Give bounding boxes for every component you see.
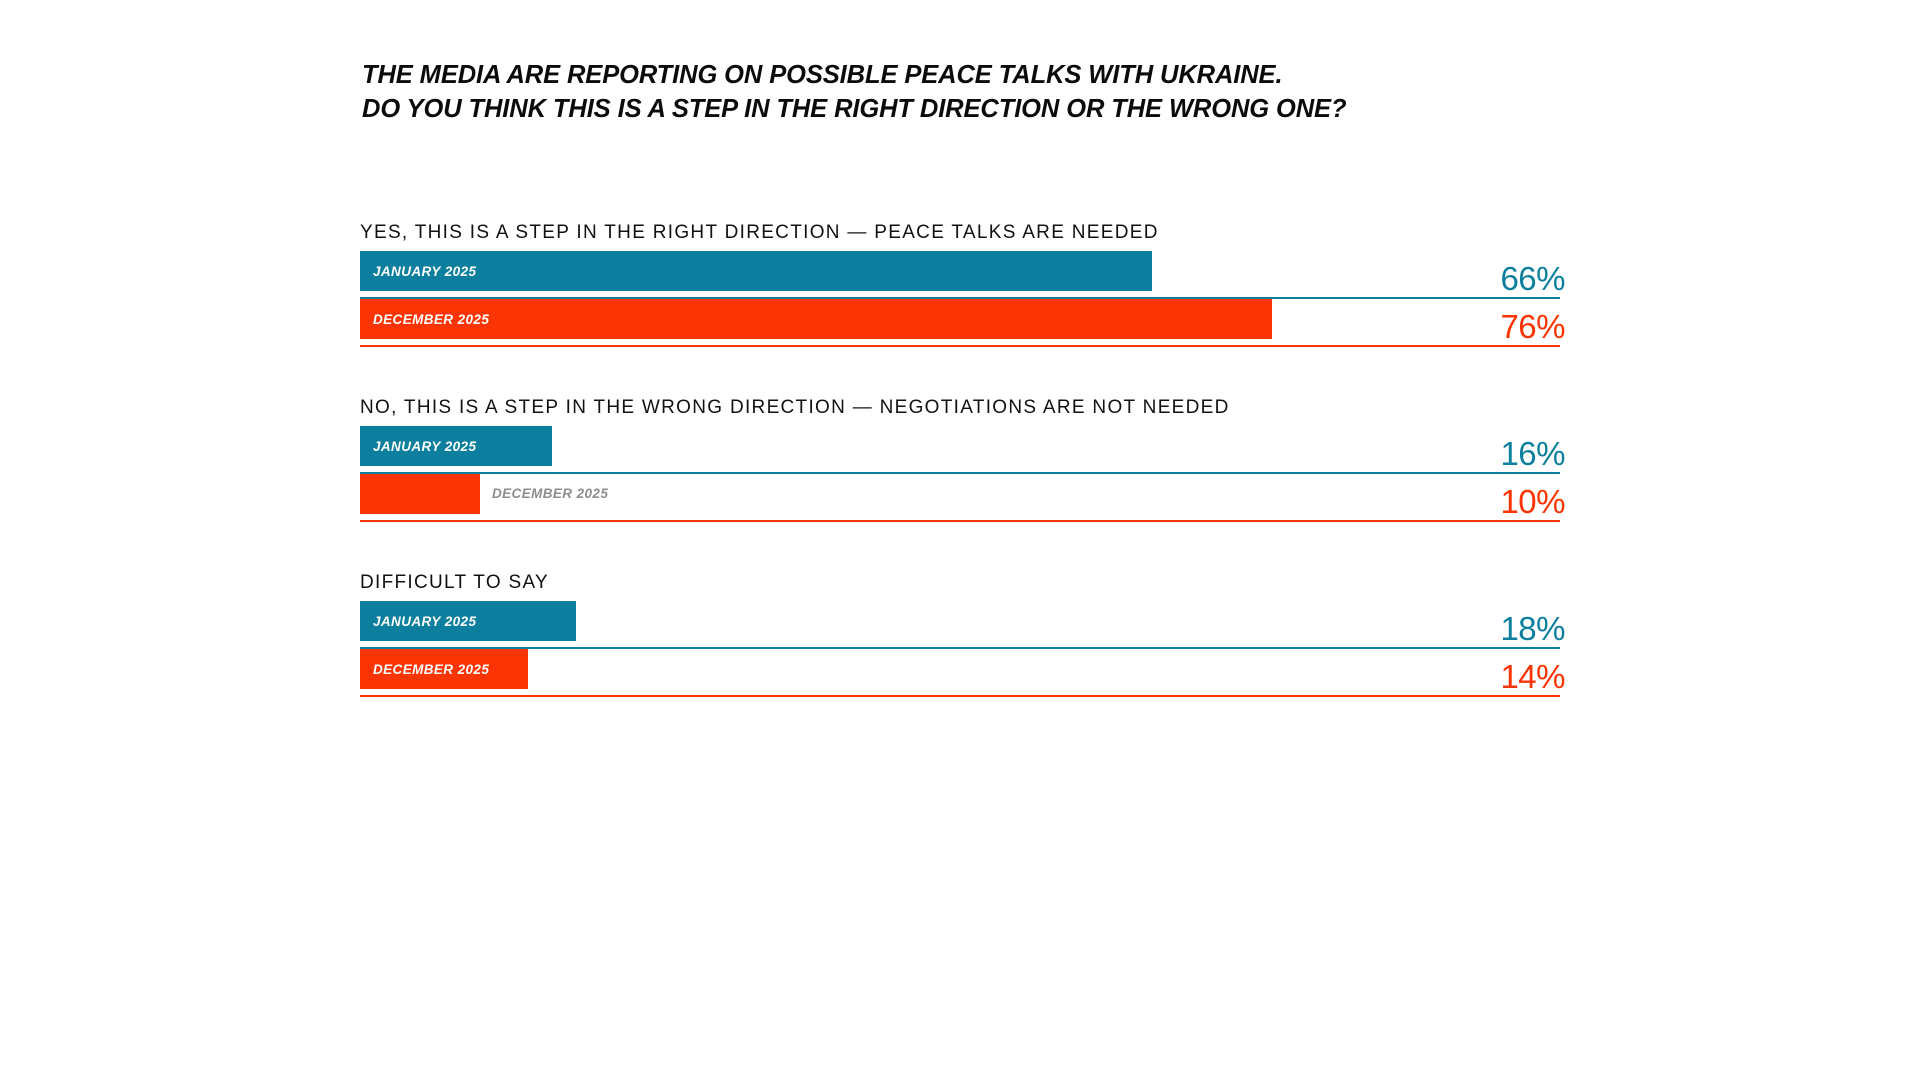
bar-row-january[interactable]: JANUARY 2025 18% — [360, 601, 1565, 649]
bar-series-label: JANUARY 2025 — [360, 614, 476, 629]
bar-series-label: DECEMBER 2025 — [360, 662, 489, 677]
page-title-line-2: DO YOU THINK THIS IS A STEP IN THE RIGHT… — [362, 92, 1542, 126]
chart-group-no: NO, THIS IS A STEP IN THE WRONG DIRECTIO… — [360, 397, 1565, 522]
group-label: NO, THIS IS A STEP IN THE WRONG DIRECTIO… — [360, 397, 1565, 419]
bar-december[interactable] — [360, 474, 480, 514]
bar-value-label: 14% — [1500, 659, 1565, 695]
bar-december[interactable]: DECEMBER 2025 — [360, 649, 528, 689]
bar-baseline — [360, 345, 1560, 347]
bar-row-december[interactable]: DECEMBER 2025 76% — [360, 299, 1565, 347]
page-title: THE MEDIA ARE REPORTING ON POSSIBLE PEAC… — [362, 58, 1542, 126]
bar-series-label: JANUARY 2025 — [360, 264, 476, 279]
group-label: YES, THIS IS A STEP IN THE RIGHT DIRECTI… — [360, 222, 1565, 244]
bar-january[interactable]: JANUARY 2025 — [360, 426, 552, 466]
bar-chart: YES, THIS IS A STEP IN THE RIGHT DIRECTI… — [360, 222, 1565, 697]
bar-value-label: 66% — [1500, 261, 1565, 297]
bar-row-december[interactable]: DECEMBER 2025 14% — [360, 649, 1565, 697]
chart-group-yes: YES, THIS IS A STEP IN THE RIGHT DIRECTI… — [360, 222, 1565, 347]
bar-december[interactable]: DECEMBER 2025 — [360, 299, 1272, 339]
poll-infographic: THE MEDIA ARE REPORTING ON POSSIBLE PEAC… — [0, 0, 1920, 1080]
bar-value-label: 16% — [1500, 436, 1565, 472]
page-title-line-1: THE MEDIA ARE REPORTING ON POSSIBLE PEAC… — [362, 58, 1542, 92]
bar-series-label: JANUARY 2025 — [360, 439, 476, 454]
bar-january[interactable]: JANUARY 2025 — [360, 601, 576, 641]
bar-baseline — [360, 520, 1560, 522]
bar-row-january[interactable]: JANUARY 2025 16% — [360, 426, 1565, 474]
bar-value-label: 10% — [1500, 484, 1565, 520]
bar-baseline — [360, 695, 1560, 697]
group-label: DIFFICULT TO SAY — [360, 572, 1565, 594]
bar-january[interactable]: JANUARY 2025 — [360, 251, 1152, 291]
bar-track — [360, 649, 1560, 697]
bar-value-label: 76% — [1500, 309, 1565, 345]
bar-row-january[interactable]: JANUARY 2025 66% — [360, 251, 1565, 299]
bar-series-label: DECEMBER 2025 — [492, 486, 608, 501]
bar-row-december[interactable]: DECEMBER 2025 10% — [360, 474, 1565, 522]
bar-series-label: DECEMBER 2025 — [360, 312, 489, 327]
chart-group-difficult: DIFFICULT TO SAY JANUARY 2025 18% DECEMB… — [360, 572, 1565, 697]
bar-value-label: 18% — [1500, 611, 1565, 647]
